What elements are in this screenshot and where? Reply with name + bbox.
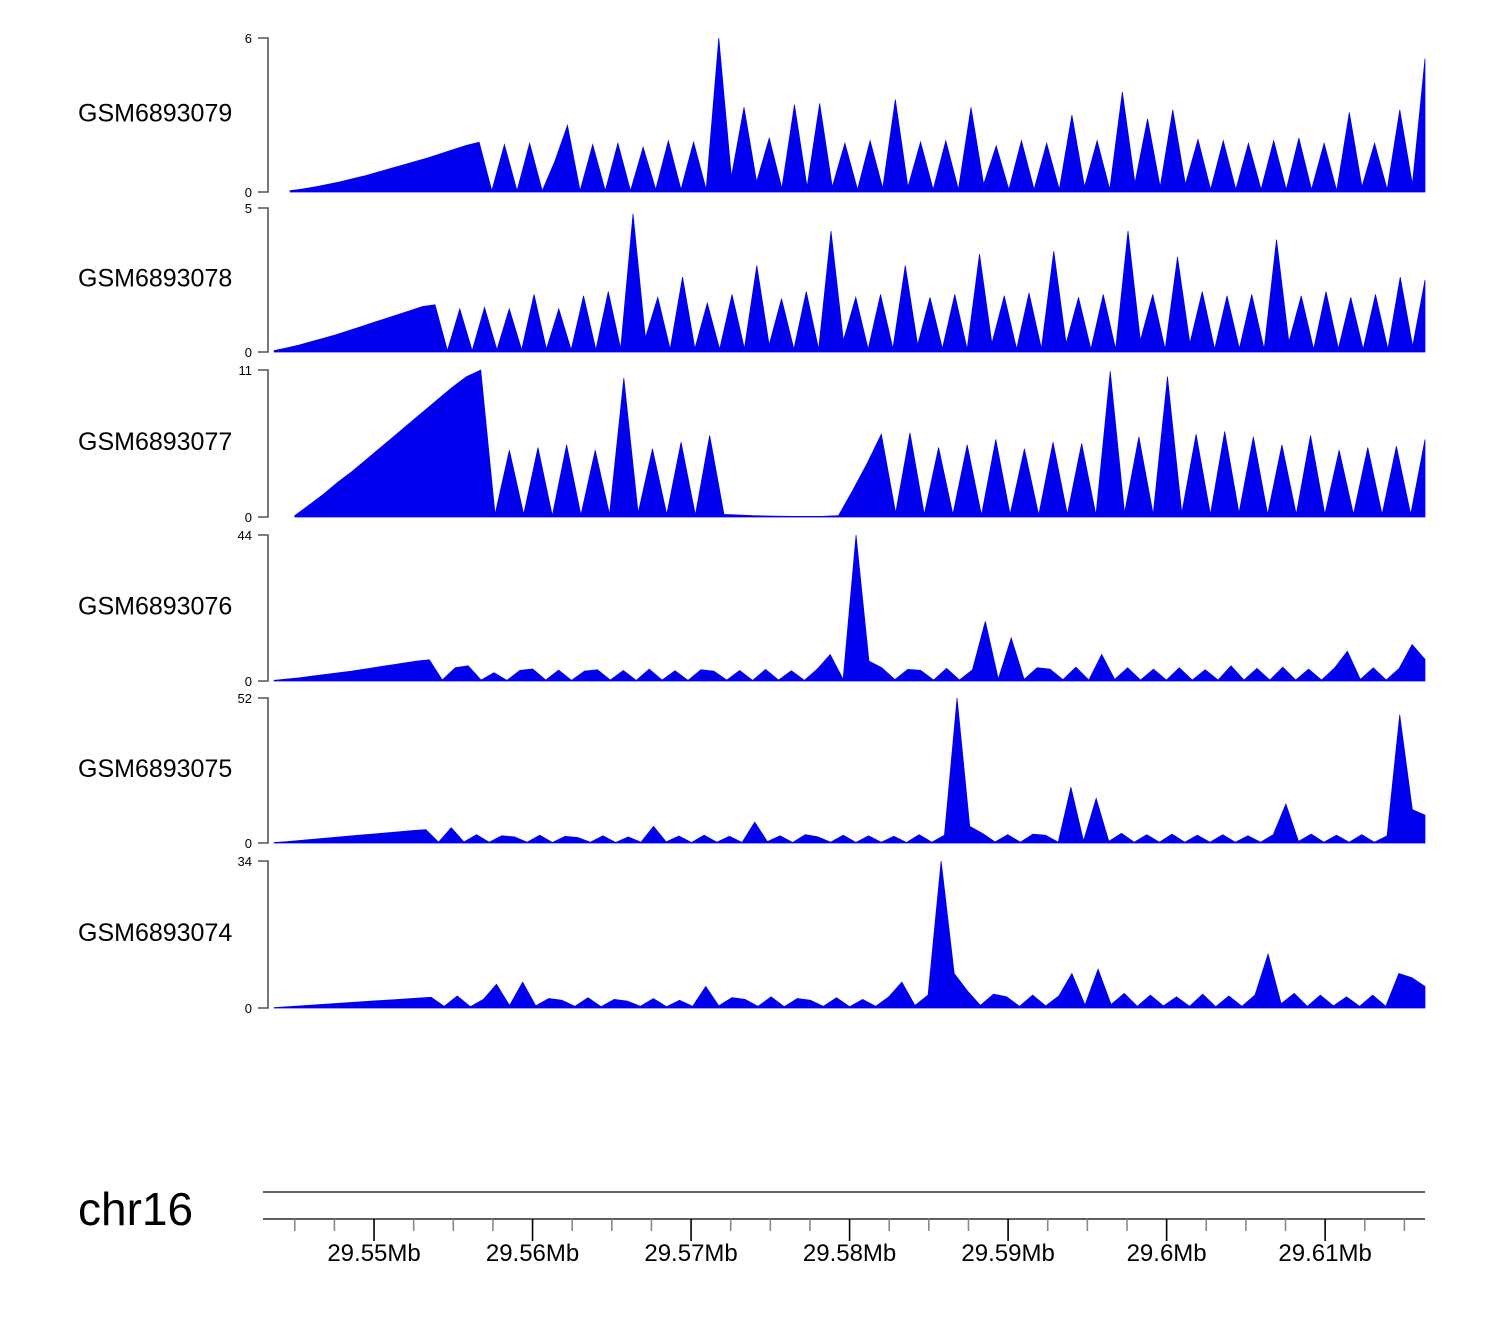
ruler-tick-label: 29.55Mb — [327, 1240, 420, 1267]
track-name-label: GSM6893077 — [78, 428, 232, 456]
ruler-tick-label: 29.58Mb — [803, 1240, 896, 1267]
y-axis-max-label: 6 — [245, 31, 252, 46]
y-axis-max-label: 34 — [238, 854, 252, 869]
track-name-label: GSM6893074 — [78, 919, 232, 947]
y-axis-max-label: 5 — [245, 201, 252, 216]
track-name-label: GSM6893075 — [78, 755, 232, 783]
y-axis-min-label: 0 — [245, 345, 252, 360]
ruler-tick-label: 29.61Mb — [1278, 1240, 1371, 1267]
genome-browser-coverage-plot: 60GSM689307950GSM6893078110GSM6893077440… — [0, 0, 1500, 1320]
ruler-tick-label: 29.57Mb — [644, 1240, 737, 1267]
y-axis-min-label: 0 — [245, 510, 252, 525]
y-axis-max-label: 52 — [238, 691, 252, 706]
chromosome-label: chr16 — [78, 1183, 193, 1235]
ruler-tick-label: 29.6Mb — [1127, 1240, 1207, 1267]
track-name-label: GSM6893076 — [78, 593, 232, 621]
y-axis-max-label: 11 — [239, 363, 253, 378]
ruler-tick-label: 29.59Mb — [961, 1240, 1054, 1267]
y-axis-min-label: 0 — [245, 674, 252, 689]
canvas-background — [0, 0, 1500, 1320]
y-axis-min-label: 0 — [245, 836, 252, 851]
y-axis-min-label: 0 — [245, 1001, 252, 1016]
y-axis-max-label: 44 — [238, 528, 252, 543]
ruler-tick-label: 29.56Mb — [486, 1240, 579, 1267]
track-name-label: GSM6893078 — [78, 265, 232, 293]
y-axis-min-label: 0 — [245, 185, 252, 200]
track-name-label: GSM6893079 — [78, 100, 232, 128]
